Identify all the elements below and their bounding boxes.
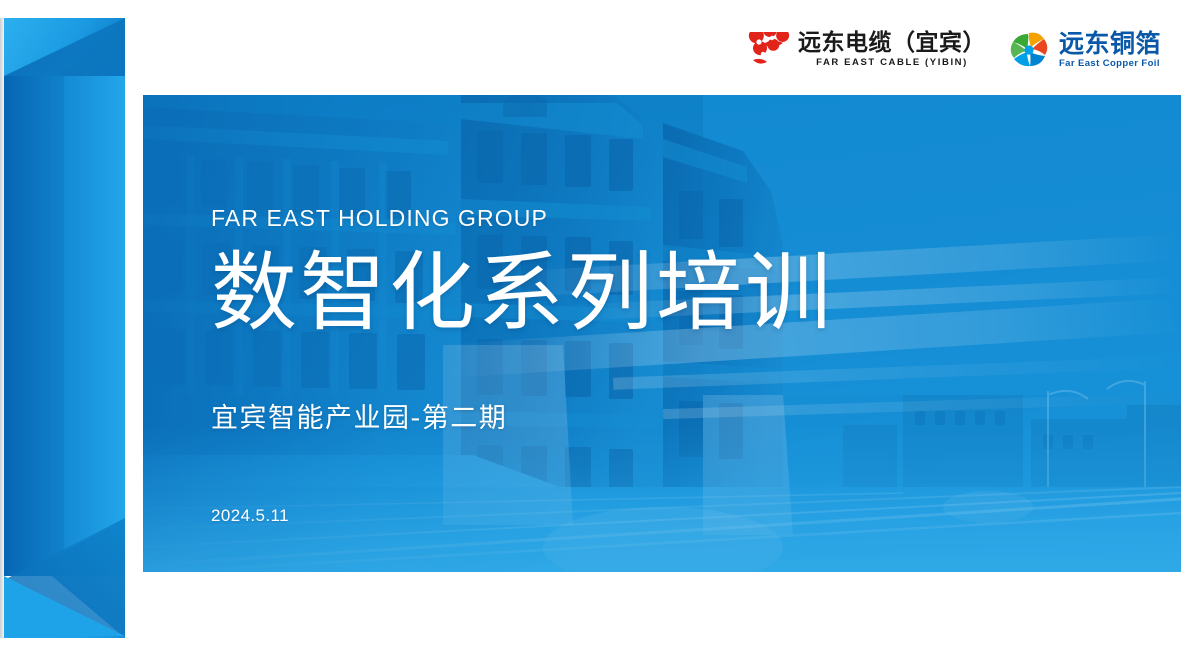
logo-far-east-copper-foil: 远东铜箔 Far East Copper Foil xyxy=(1008,30,1161,70)
logo-far-east-cable-yibin: 远东电缆（宜宾） FAR EAST CABLE (YIBIN) xyxy=(747,32,986,68)
page-subtitle: 宜宾智能产业园-第二期 xyxy=(211,396,834,435)
title-block: FAR EAST HOLDING GROUP 数智化系列培训 宜宾智能产业园-第… xyxy=(211,205,834,526)
folded-ribbon-bookmark xyxy=(0,18,160,638)
logo-foil-cn: 远东铜箔 xyxy=(1059,31,1161,56)
logo-foil-en: Far East Copper Foil xyxy=(1059,59,1161,69)
logo-bar: 远东电缆（宜宾） FAR EAST CABLE (YIBIN) 远东铜箔 Far… xyxy=(747,30,1161,70)
page-date: 2024.5.11 xyxy=(211,506,834,526)
hero-panel: FAR EAST HOLDING GROUP 数智化系列培训 宜宾智能产业园-第… xyxy=(143,95,1181,572)
presentation-slide: FAR EAST HOLDING GROUP 数智化系列培训 宜宾智能产业园-第… xyxy=(0,0,1181,665)
multicolor-pinwheel-icon xyxy=(1008,30,1052,70)
page-title: 数智化系列培训 xyxy=(211,247,834,340)
page-eyebrow: FAR EAST HOLDING GROUP xyxy=(211,205,834,233)
red-petal-cluster-icon xyxy=(747,32,791,68)
logo-cable-cn: 远东电缆（宜宾） xyxy=(798,32,986,55)
logo-cable-en: FAR EAST CABLE (YIBIN) xyxy=(798,58,986,68)
